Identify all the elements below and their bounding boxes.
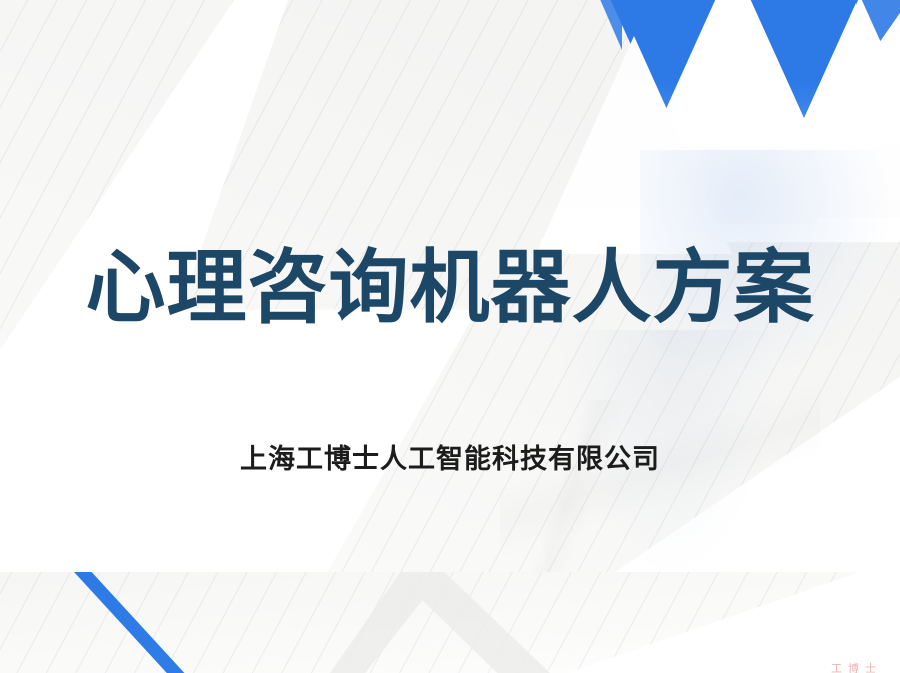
presentation-title-slide: 心理咨询机器人方案 上海工博士人工智能科技有限公司 工博士 [0, 0, 900, 673]
slide-title: 心理咨询机器人方案 [0, 248, 900, 328]
slide-subtitle: 上海工博士人工智能科技有限公司 [0, 443, 900, 475]
corner-watermark: 工博士 [831, 660, 882, 673]
slide-content: 心理咨询机器人方案 上海工博士人工智能科技有限公司 工博士 [0, 0, 900, 673]
